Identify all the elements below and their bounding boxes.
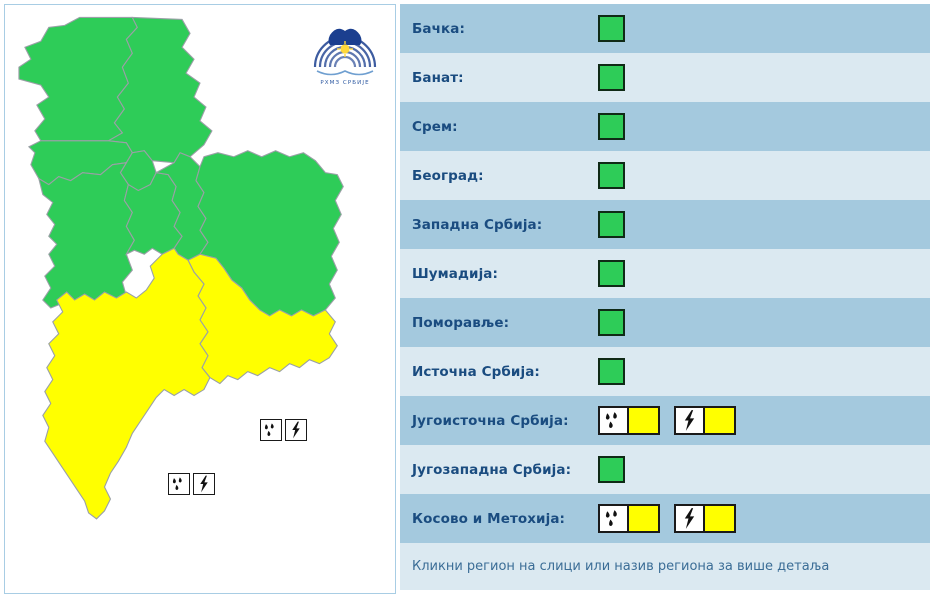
region-label[interactable]: Банат: [400,70,598,86]
rain-icon [260,419,282,441]
click-hint-text: Кликни регион на слици или назив региона… [412,559,829,574]
status-badge-green [598,113,625,140]
region-row[interactable]: Београд: [400,151,930,200]
status-badge-green [598,211,625,238]
rain-icon [600,408,629,433]
region-row[interactable]: Источна Србија: [400,347,930,396]
region-status [598,211,625,238]
warning-level-swatch [705,408,734,433]
region-status [598,15,625,42]
region-row[interactable]: Бачка: [400,4,930,53]
region-status [598,64,625,91]
region-label[interactable]: Косово и Метохија: [400,511,598,527]
status-badge-green [598,309,625,336]
region-label[interactable]: Срем: [400,119,598,135]
warning-level-swatch [629,506,658,531]
click-hint: Кликни регион на слици или назив региона… [400,543,930,590]
meteoalarm-page: РХМЗ СРБИЈЕ [0,0,940,602]
map-graphic[interactable] [5,5,395,593]
thunderstorm-icon [676,408,705,433]
status-badge-green [598,15,625,42]
region-row[interactable]: Косово и Метохија: [400,494,930,543]
region-status [598,113,625,140]
rain-icon [600,506,629,531]
warning-thunderstorm [674,406,736,435]
thunderstorm-icon [676,506,705,531]
warning-level-swatch [629,408,658,433]
region-list: Бачка:Банат:Срем:Београд:Западна Србија:… [400,4,930,602]
serbia-warning-map[interactable]: РХМЗ СРБИЈЕ [4,4,396,594]
region-label[interactable]: Поморавље: [400,315,598,331]
region-row[interactable]: Шумадија: [400,249,930,298]
region-label[interactable]: Бачка: [400,21,598,37]
thunderstorm-icon [285,419,307,441]
warning-rain [598,406,660,435]
rhmz-logo: РХМЗ СРБИЈЕ [309,15,381,89]
status-badge-green [598,162,625,189]
region-label[interactable]: Југозападна Србија: [400,462,598,478]
region-status [598,406,736,435]
region-status [598,358,625,385]
warning-thunderstorm [674,504,736,533]
region-label[interactable]: Југоисточна Србија: [400,413,598,429]
region-row[interactable]: Југозападна Србија: [400,445,930,494]
status-badge-green [598,64,625,91]
region-row[interactable]: Западна Србија: [400,200,930,249]
region-label[interactable]: Шумадија: [400,266,598,282]
status-badge-green [598,456,625,483]
thunderstorm-icon [193,473,215,495]
region-status [598,504,736,533]
status-badge-green [598,358,625,385]
warning-rain [598,504,660,533]
region-status [598,260,625,287]
region-row[interactable]: Југоисточна Србија: [400,396,930,445]
region-label[interactable]: Западна Србија: [400,217,598,233]
warning-level-swatch [705,506,734,531]
region-status [598,309,625,336]
region-row[interactable]: Банат: [400,53,930,102]
kosovo-metohija-badges[interactable] [168,473,215,495]
region-row[interactable]: Поморавље: [400,298,930,347]
rain-icon [168,473,190,495]
region-status [598,162,625,189]
region-label[interactable]: Источна Србија: [400,364,598,380]
status-badge-green [598,260,625,287]
southeast-serbia-badges[interactable] [260,419,307,441]
logo-caption: РХМЗ СРБИЈЕ [320,80,369,86]
region-status [598,456,625,483]
region-label[interactable]: Београд: [400,168,598,184]
region-row[interactable]: Срем: [400,102,930,151]
